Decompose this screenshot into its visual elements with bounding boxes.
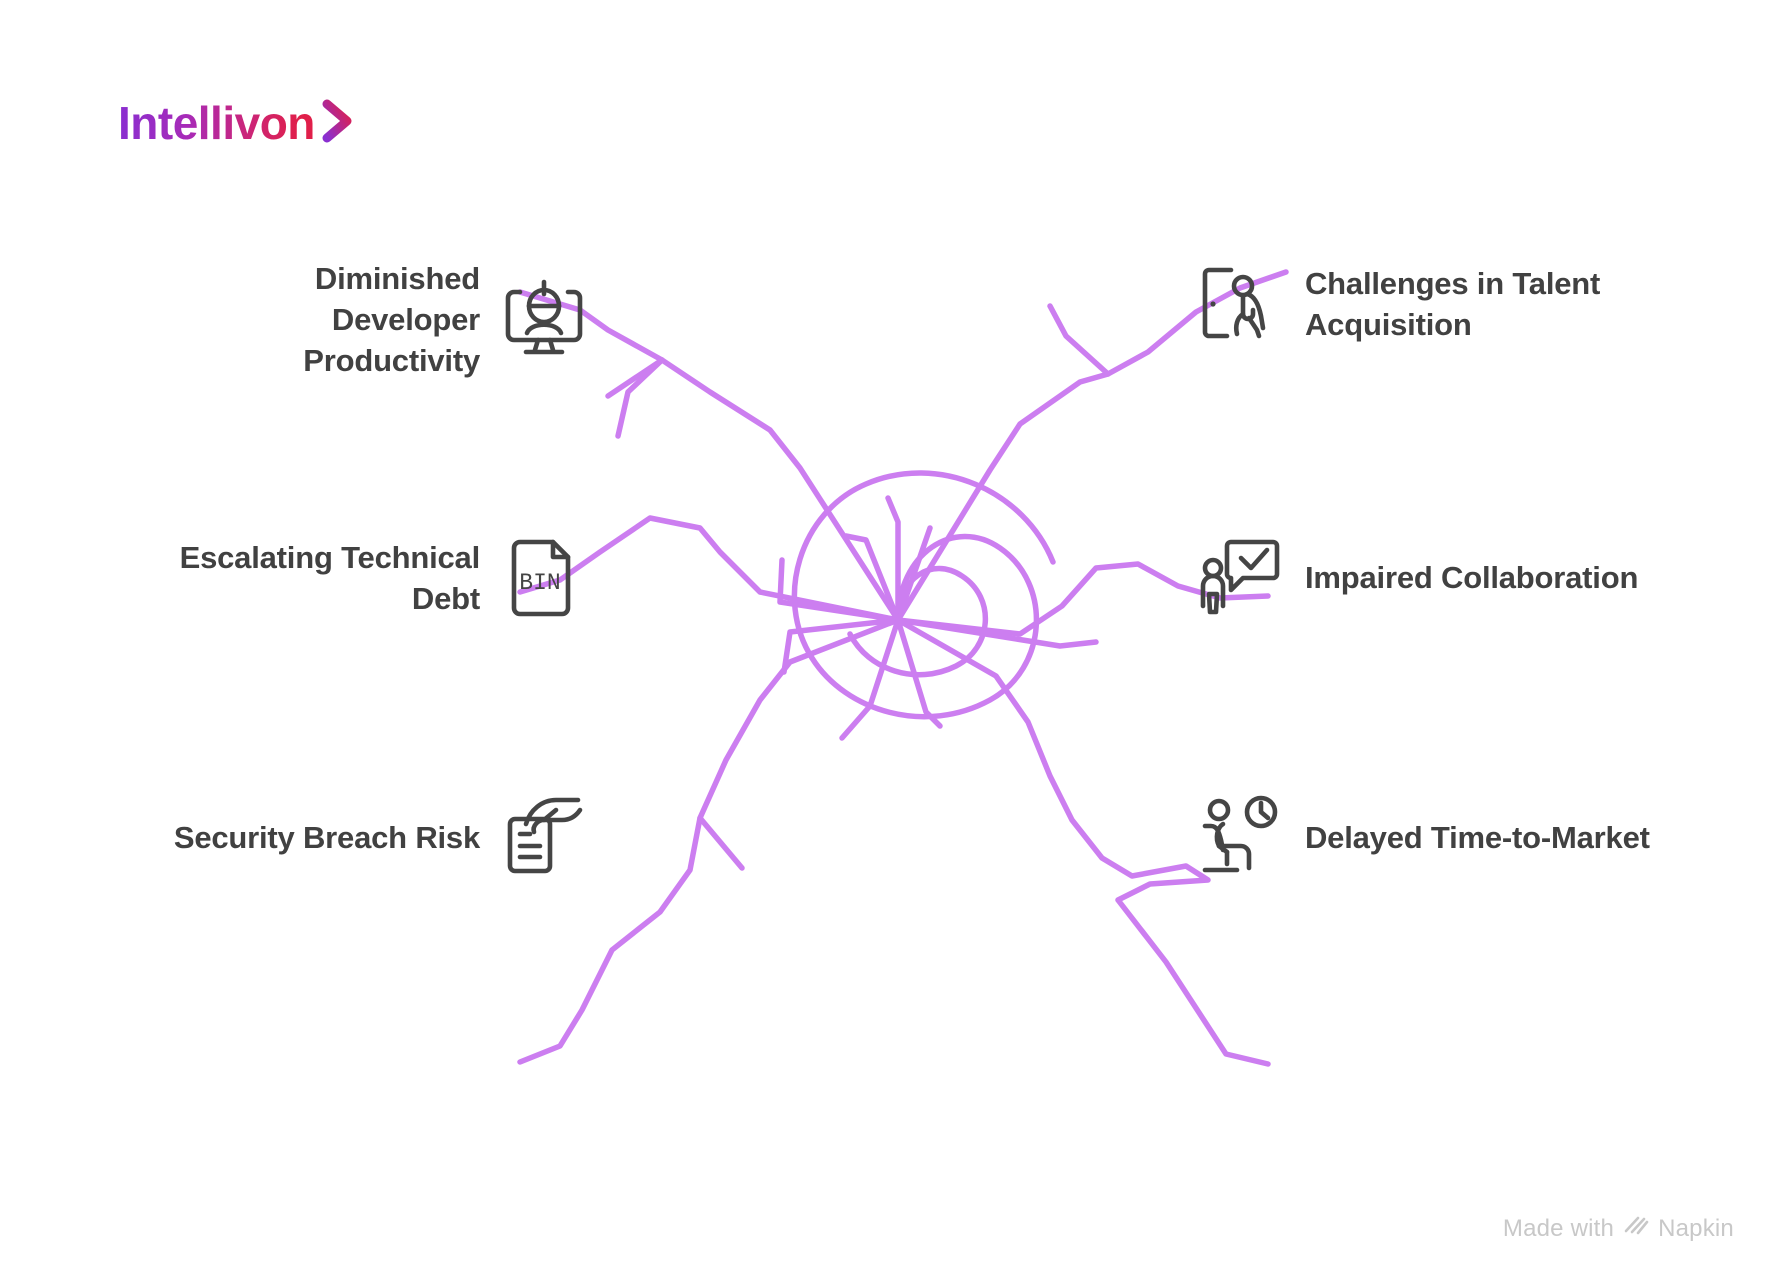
node-talent-acquisition[interactable]: Challenges in Talent Acquisition <box>1195 258 1665 350</box>
developer-monitor-icon <box>498 274 590 366</box>
napkin-watermark[interactable]: Made with Napkin <box>1503 1214 1734 1243</box>
connector-diagram <box>0 0 1776 1273</box>
node-label-collaboration: Impaired Collaboration <box>1305 557 1638 598</box>
connector-talent-acquisition-barb <box>1050 306 1108 374</box>
center-spiral-outer <box>794 473 1053 717</box>
node-security-breach[interactable]: Security Breach Risk <box>160 792 590 884</box>
hand-document-icon <box>498 792 590 884</box>
watermark-product: Napkin <box>1658 1215 1734 1243</box>
node-label-security-breach: Security Breach Risk <box>174 817 480 858</box>
node-collaboration[interactable]: Impaired Collaboration <box>1195 532 1665 624</box>
node-label-talent-acquisition: Challenges in Talent Acquisition <box>1305 263 1665 345</box>
bin-file-icon: BIN <box>498 532 590 624</box>
node-label-technical-debt: Escalating Technical Debt <box>160 537 480 619</box>
watermark-prefix: Made with <box>1503 1215 1614 1243</box>
node-developer-productivity[interactable]: Diminished Developer Productivity <box>160 258 590 382</box>
node-label-developer-productivity: Diminished Developer Productivity <box>160 258 480 382</box>
node-technical-debt[interactable]: Escalating Technical Debt BIN <box>160 532 590 624</box>
connector-security-breach-barb <box>700 818 742 868</box>
bin-file-icon-text: BIN <box>519 570 560 596</box>
door-person-walking-icon <box>1195 258 1287 350</box>
node-time-to-market[interactable]: Delayed Time-to-Market <box>1195 792 1665 884</box>
napkin-logo-icon <box>1623 1214 1649 1243</box>
person-seated-clock-icon <box>1195 792 1287 884</box>
node-label-time-to-market: Delayed Time-to-Market <box>1305 817 1650 858</box>
person-chat-check-icon <box>1195 532 1287 624</box>
connector-developer-productivity-barb2 <box>608 360 662 396</box>
